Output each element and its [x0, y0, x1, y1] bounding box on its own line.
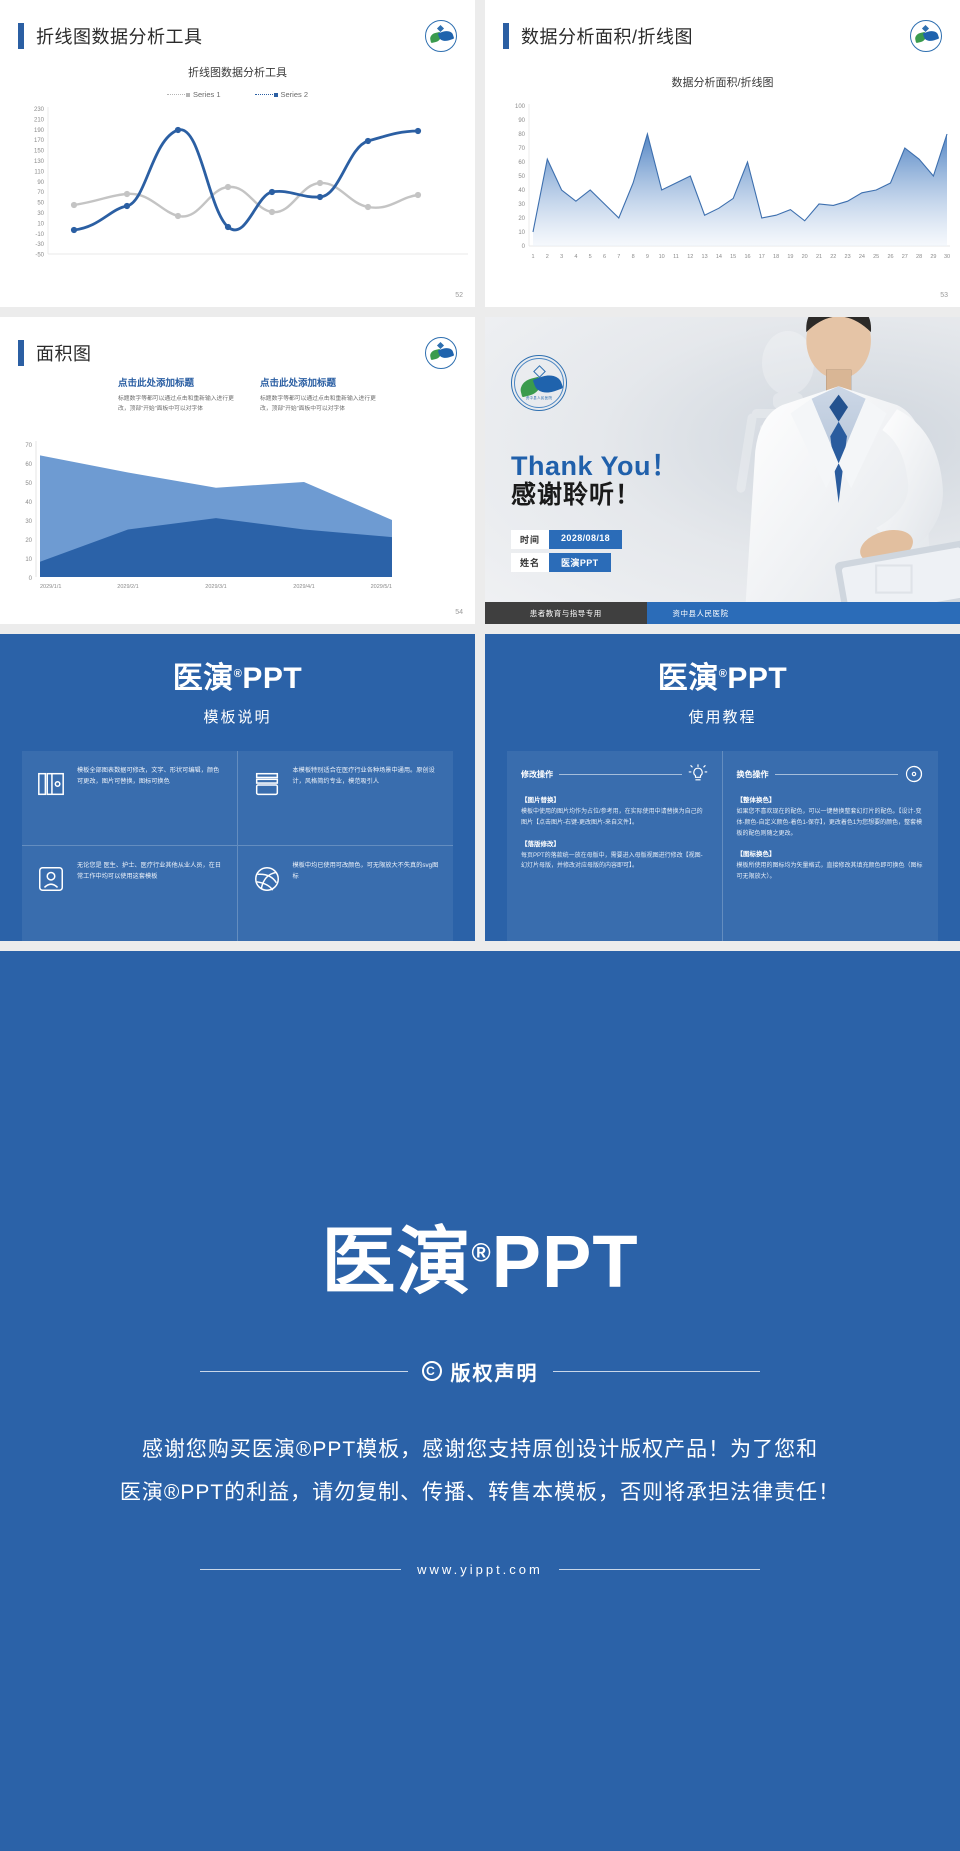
svg-text:8: 8 [632, 254, 635, 260]
svg-text:130: 130 [34, 159, 45, 165]
accent-bar-icon [503, 23, 509, 49]
slide-row-1: 折线图数据分析工具 折线图数据分析工具 Series 1 Series 2 [0, 0, 960, 307]
tutorial-column-edit: 修改操作 【图片 [507, 751, 723, 941]
svg-text:50: 50 [37, 201, 44, 207]
meta-value: 2028/08/18 [549, 530, 622, 549]
svg-text:6: 6 [603, 254, 606, 260]
callout-body: 标题数字等都可以通过点击和重新输入进行更改，顶部“开始”面板中可以对字体 [260, 394, 386, 414]
legend-swatch-icon [255, 94, 277, 95]
svg-text:10: 10 [25, 557, 32, 563]
svg-text:2029/1/1: 2029/1/1 [40, 584, 61, 590]
divider [775, 774, 899, 775]
svg-text:70: 70 [518, 146, 525, 152]
svg-text:19: 19 [787, 254, 793, 260]
svg-text:15: 15 [730, 254, 736, 260]
doctor-photo [689, 317, 960, 624]
feature-cell: 无论您是 医生、护士、医疗行业其他从业人员，在日常工作中均可以使用这套模板 [22, 846, 238, 941]
slide-title: 折线图数据分析工具 [36, 23, 425, 49]
divider [559, 774, 682, 775]
copyright-icon: C [422, 1361, 442, 1381]
palette-icon [904, 764, 924, 784]
meta-value: 医演PPT [549, 553, 611, 572]
svg-text:17: 17 [759, 254, 765, 260]
svg-text:30: 30 [944, 254, 950, 260]
copyright-label-text: 版权声明 [451, 1357, 539, 1386]
tutorial-heading: 修改操作 [521, 769, 553, 780]
x-axis-ticks: 1 2 3 4 5 6 7 8 9 10 11 12 13 14 15 16 1 [531, 254, 950, 260]
svg-text:0: 0 [29, 576, 33, 582]
thank-you-background: 资中县人民医院 Thank You！ 感谢聆听！ 时间 2028/08/18 姓… [485, 317, 960, 624]
svg-text:20: 20 [25, 538, 32, 544]
svg-text:90: 90 [37, 180, 44, 186]
svg-text:25: 25 [873, 254, 879, 260]
tutorial-block-title: 【图标换色】 [737, 848, 925, 858]
copyright-url-rule: www.yippt.com [200, 1562, 760, 1577]
slide-title: 面积图 [36, 340, 425, 366]
svg-text:10: 10 [659, 254, 665, 260]
user-shield-icon [36, 864, 66, 894]
y-axis-ticks: 230 210 190 170 150 130 110 90 70 50 30 … [34, 107, 45, 259]
svg-text:90: 90 [518, 118, 525, 124]
svg-text:110: 110 [34, 169, 44, 175]
legend-label: Series 2 [281, 90, 309, 99]
slide-header: 数据分析面积/折线图 [485, 0, 960, 56]
svg-text:30: 30 [25, 519, 32, 525]
meta-key: 时间 [511, 530, 549, 549]
svg-text:30: 30 [518, 202, 525, 208]
slide-thank-you[interactable]: 资中县人民医院 Thank You！ 感谢聆听！ 时间 2028/08/18 姓… [485, 317, 960, 624]
svg-text:24: 24 [859, 254, 865, 260]
slide-page-number: 54 [455, 609, 463, 616]
book-icon [36, 769, 66, 799]
divider [200, 1569, 401, 1570]
slide-line-chart-tool[interactable]: 折线图数据分析工具 折线图数据分析工具 Series 1 Series 2 [0, 0, 475, 307]
tutorial-block: 【落版修改】 每页PPT的落款统一放在母版中，需要进入母版视图进行修改【视图-幻… [521, 838, 708, 873]
svg-text:11: 11 [673, 254, 679, 260]
svg-text:40: 40 [518, 188, 525, 194]
tutorial-block-title: 【图片替换】 [521, 794, 708, 804]
meta-row-date: 时间 2028/08/18 [511, 530, 622, 549]
grid-gutter [0, 941, 960, 951]
svg-text:40: 40 [25, 500, 32, 506]
meta-key: 姓名 [511, 553, 549, 572]
feature-text: 本模板特别适合在医疗行业各种场景中通用。原创设计，风格简约专业，模范吸引人 [293, 765, 440, 831]
series-2-points [71, 127, 421, 233]
svg-text:230: 230 [34, 107, 45, 113]
slide-page-number: 53 [940, 292, 948, 299]
tutorial-column-header: 修改操作 [521, 764, 708, 784]
callout-group: 点击此处添加标题 标题数字等都可以通过点击和重新输入进行更改，顶部“开始”面板中… [118, 375, 386, 414]
callout-heading: 点击此处添加标题 [118, 375, 244, 389]
tutorial-column-header: 换色操作 [737, 764, 925, 784]
hospital-logo-icon [425, 337, 457, 369]
svg-text:80: 80 [518, 132, 525, 138]
svg-text:60: 60 [518, 160, 525, 166]
thank-you-title-cn: 感谢聆听！ [511, 475, 641, 511]
divider [553, 1371, 761, 1372]
tutorial-block-body: 每页PPT的落款统一放在母版中，需要进入母版视图进行修改【视图-幻灯片母版，并修… [521, 851, 708, 873]
callout-body: 标题数字等都可以通过点击和重新输入进行更改，顶部“开始”面板中可以对字体 [118, 394, 244, 414]
chart-legend: Series 1 Series 2 [0, 90, 475, 99]
feature-cell: 本模板特别适合在医疗行业各种场景中通用。原创设计，风格简约专业，模范吸引人 [238, 751, 454, 846]
svg-text:0: 0 [522, 244, 526, 250]
callout-heading: 点击此处添加标题 [260, 375, 386, 389]
svg-text:190: 190 [34, 128, 45, 134]
copyright-body: 感谢您购买医演®PPT模板，感谢您支持原创设计版权产品！为了您和 医演®PPT的… [120, 1428, 840, 1514]
dribbble-icon [252, 864, 282, 894]
tutorial-block-title: 【整体换色】 [737, 794, 925, 804]
hospital-logo-icon [910, 20, 942, 52]
tutorial-block-body: 模板所使用的图标均为矢量格式，直接修改其填充颜色即可换色（图标可无限放大）。 [737, 861, 925, 883]
svg-text:7: 7 [617, 254, 620, 260]
svg-text:60: 60 [25, 462, 32, 468]
slide-area-line-chart[interactable]: 数据分析面积/折线图 数据分析面积/折线图 100 90 80 [485, 0, 960, 307]
footer-left-label: 患者教育与指导专用 [485, 602, 647, 624]
tutorial-block-title: 【落版修改】 [521, 838, 708, 848]
legend-item-series-2: Series 2 [255, 90, 309, 99]
tutorial-block: 【图片替换】 模板中使用的图片均作为占位/参考用，在实际使用中请替换为自己的图片… [521, 794, 708, 829]
svg-text:30: 30 [37, 211, 44, 217]
panel-subtitle: 使用教程 [485, 706, 960, 727]
y-axis-ticks: 100 90 80 70 60 50 40 30 20 10 0 [515, 104, 526, 250]
slide-page-number: 52 [455, 292, 463, 299]
brand-block: 医演®PPT [485, 634, 960, 694]
svg-text:23: 23 [845, 254, 851, 260]
slide-row-3: 医演®PPT 模板说明 模板全部图表数据可修改，文字、形状可编辑，颜色可更改，图… [0, 634, 960, 941]
svg-text:3: 3 [560, 254, 563, 260]
svg-text:150: 150 [34, 149, 45, 155]
feature-text: 模板全部图表数据可修改，文字、形状可编辑，颜色可更改，图片可替换，图标可换色 [77, 765, 223, 831]
callout-1: 点击此处添加标题 标题数字等都可以通过点击和重新输入进行更改，顶部“开始”面板中… [118, 375, 244, 414]
svg-text:70: 70 [25, 443, 32, 449]
svg-text:-30: -30 [35, 242, 44, 248]
slide-copyright[interactable]: 医演®PPT C 版权声明 感谢您购买医演®PPT模板，感谢您支持原创设计版权产… [0, 951, 960, 1851]
svg-text:210: 210 [34, 117, 45, 123]
box-icon [252, 769, 282, 799]
area-line-chart-svg: 100 90 80 70 60 50 40 30 20 10 0 [485, 96, 960, 291]
svg-text:18: 18 [773, 254, 779, 260]
svg-text:4: 4 [574, 254, 577, 260]
svg-text:2029/5/1: 2029/5/1 [371, 584, 392, 590]
tutorial-grid: 修改操作 【图片 [507, 751, 938, 941]
svg-text:21: 21 [816, 254, 822, 260]
grid-gutter [475, 317, 485, 624]
grid-gutter [475, 0, 485, 307]
svg-text:2029/4/1: 2029/4/1 [293, 584, 314, 590]
legend-label: Series 1 [193, 90, 221, 99]
brand-block: 医演®PPT [0, 634, 475, 694]
slide-title: 数据分析面积/折线图 [521, 23, 910, 49]
slide-header: 折线图数据分析工具 [0, 0, 475, 56]
chart-title: 折线图数据分析工具 [0, 64, 475, 80]
svg-text:2029/2/1: 2029/2/1 [117, 584, 138, 590]
svg-text:70: 70 [37, 190, 44, 196]
svg-text:26: 26 [887, 254, 893, 260]
tutorial-column-color: 换色操作 【整体换色】 如果您不喜欢现在的配色，可以一键替换整套幻灯片的配色。【… [723, 751, 939, 941]
series-1-points [71, 180, 421, 219]
svg-text:22: 22 [830, 254, 836, 260]
copyright-label: C 版权声明 [422, 1357, 539, 1386]
feature-text: 模板中均已使用可改颜色，可无限放大不失真的svg图标 [293, 860, 440, 927]
slide-footer: 患者教育与指导专用 资中县人民医院 [485, 602, 960, 624]
hospital-logo-icon: 资中县人民医院 [511, 355, 567, 411]
x-axis-ticks: 2029/1/1 2029/2/1 2029/3/1 2029/4/1 2029… [40, 584, 392, 590]
legend-swatch-icon [167, 94, 189, 95]
hospital-logo-icon [425, 20, 457, 52]
logo-caption: 资中县人民医院 [511, 396, 567, 401]
svg-text:-10: -10 [35, 232, 44, 238]
legend-item-series-1: Series 1 [167, 90, 221, 99]
feature-text: 无论您是 医生、护士、医疗行业其他从业人员，在日常工作中均可以使用这套模板 [77, 860, 223, 927]
svg-text:13: 13 [702, 254, 708, 260]
panel-subtitle: 模板说明 [0, 706, 475, 727]
chart-title: 数据分析面积/折线图 [485, 74, 960, 90]
slide-area-chart[interactable]: 面积图 点击此处添加标题 标题数字等都可以通过点击和重新输入进行更改，顶部“开始… [0, 317, 475, 624]
tutorial-block: 【整体换色】 如果您不喜欢现在的配色，可以一键替换整套幻灯片的配色。【设计-变体… [737, 794, 925, 839]
svg-text:16: 16 [744, 254, 750, 260]
callout-2: 点击此处添加标题 标题数字等都可以通过点击和重新输入进行更改，顶部“开始”面板中… [260, 375, 386, 414]
tutorial-block-body: 模板中使用的图片均作为占位/参考用，在实际使用中请替换为自己的图片【点击图片-右… [521, 807, 708, 829]
svg-text:10: 10 [37, 221, 44, 227]
tutorial-heading: 换色操作 [737, 769, 769, 780]
accent-bar-icon [18, 23, 24, 49]
copyright-line-2: 医演®PPT的利益，请勿复制、传播、转售本模板，否则将承担法律责任！ [120, 1471, 840, 1514]
svg-text:170: 170 [34, 138, 45, 144]
svg-text:9: 9 [646, 254, 649, 260]
area-line-chart-container: 数据分析面积/折线图 100 90 80 70 60 50 40 30 [485, 74, 960, 296]
copyright-line-1: 感谢您购买医演®PPT模板，感谢您支持原创设计版权产品！为了您和 [120, 1428, 840, 1471]
grid-gutter [0, 307, 960, 317]
line-chart-container: 折线图数据分析工具 Series 1 Series 2 230 210 190 … [0, 64, 475, 264]
feature-grid: 模板全部图表数据可修改，文字、形状可编辑，颜色可更改，图片可替换，图标可换色 本… [22, 751, 453, 941]
accent-bar-icon [18, 340, 24, 366]
copyright-section-rule: C 版权声明 [200, 1357, 760, 1386]
divider [559, 1569, 760, 1570]
feature-cell: 模板全部图表数据可修改，文字、形状可编辑，颜色可更改，图片可替换，图标可换色 [22, 751, 238, 846]
area-chart-svg: 70 60 50 40 30 20 10 0 2029/1/1 2029/2/1… [0, 427, 475, 624]
slide-header: 面积图 [0, 317, 475, 373]
svg-text:5: 5 [589, 254, 592, 260]
brand-wordmark: 医演®PPT [485, 664, 960, 694]
line-chart-svg: 230 210 190 170 150 130 110 90 70 50 30 … [0, 99, 475, 259]
slide-row-2: 面积图 点击此处添加标题 标题数字等都可以通过点击和重新输入进行更改，顶部“开始… [0, 317, 960, 624]
brand-wordmark: 医演®PPT [321, 1225, 638, 1299]
svg-text:29: 29 [930, 254, 936, 260]
svg-text:28: 28 [916, 254, 922, 260]
grid-gutter [0, 624, 960, 634]
slide-template-info[interactable]: 医演®PPT 模板说明 模板全部图表数据可修改，文字、形状可编辑，颜色可更改，图… [0, 634, 475, 941]
tutorial-block: 【图标换色】 模板所使用的图标均为矢量格式，直接修改其填充颜色即可换色（图标可无… [737, 848, 925, 883]
lightbulb-icon [688, 764, 708, 784]
svg-text:-50: -50 [35, 253, 44, 259]
svg-text:20: 20 [802, 254, 808, 260]
svg-text:1: 1 [531, 254, 534, 260]
feature-cell: 模板中均已使用可改颜色，可无限放大不失真的svg图标 [238, 846, 454, 941]
svg-text:10: 10 [518, 230, 525, 236]
svg-text:27: 27 [902, 254, 908, 260]
tutorial-block-body: 如果您不喜欢现在的配色，可以一键替换整套幻灯片的配色。【设计-变体-颜色-自定义… [737, 807, 925, 839]
svg-text:50: 50 [25, 481, 32, 487]
website-url[interactable]: www.yippt.com [417, 1562, 543, 1577]
svg-text:14: 14 [716, 254, 722, 260]
svg-text:100: 100 [515, 104, 526, 110]
svg-text:50: 50 [518, 174, 525, 180]
divider [200, 1371, 408, 1372]
footer-right-label: 资中县人民医院 [647, 602, 960, 624]
meta-row-name: 姓名 医演PPT [511, 553, 611, 572]
y-axis-ticks: 70 60 50 40 30 20 10 0 [25, 443, 32, 582]
svg-text:2: 2 [546, 254, 549, 260]
svg-text:2029/3/1: 2029/3/1 [205, 584, 226, 590]
grid-gutter [475, 634, 485, 941]
slide-tutorial-info[interactable]: 医演®PPT 使用教程 修改操作 [485, 634, 960, 941]
svg-text:20: 20 [518, 216, 525, 222]
brand-wordmark: 医演®PPT [0, 664, 475, 694]
svg-text:12: 12 [687, 254, 693, 260]
